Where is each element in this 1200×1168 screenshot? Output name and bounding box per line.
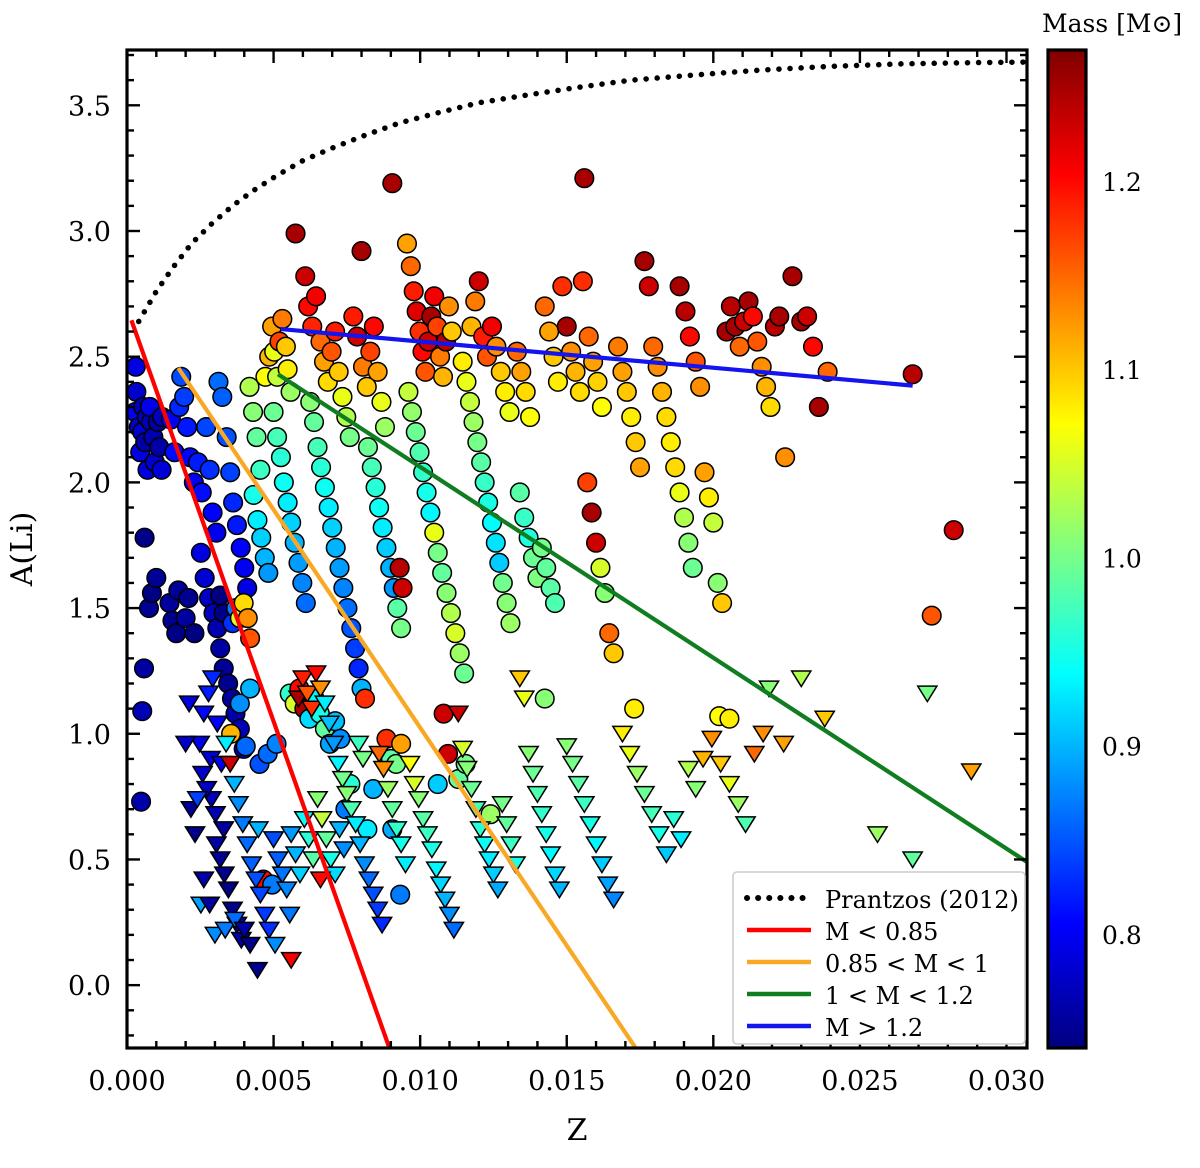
data-point-circle	[277, 337, 296, 356]
y-tick-label: 3.0	[68, 217, 111, 248]
legend-label-2: 0.85 < M < 1	[825, 950, 989, 978]
data-point-circle	[133, 702, 152, 721]
data-point-circle	[464, 413, 483, 432]
data-point-circle	[540, 322, 559, 341]
data-point-circle	[544, 347, 563, 366]
data-point-circle	[622, 408, 641, 427]
data-point-circle	[356, 689, 375, 708]
data-point-circle	[195, 569, 214, 588]
data-point-circle	[461, 393, 480, 412]
data-point-circle	[305, 413, 324, 432]
data-point-circle	[307, 287, 326, 306]
x-axis-label: Z	[567, 1113, 588, 1148]
data-point-circle	[662, 433, 681, 452]
data-point-circle	[720, 709, 739, 728]
data-point-circle	[683, 559, 702, 578]
data-point-circle	[491, 362, 510, 381]
data-point-circle	[319, 498, 338, 517]
data-point-circle	[213, 388, 232, 407]
data-point-circle	[175, 388, 194, 407]
data-point-circle	[377, 538, 396, 557]
data-point-circle	[496, 383, 515, 402]
data-point-circle	[203, 503, 222, 522]
data-point-circle	[403, 403, 422, 422]
data-point-circle	[392, 619, 411, 638]
colorbar	[1048, 50, 1086, 1048]
data-point-circle	[810, 398, 829, 417]
data-point-circle	[399, 383, 418, 402]
data-point-circle	[500, 403, 519, 422]
data-point-circle	[455, 664, 474, 683]
data-point-circle	[268, 428, 287, 447]
colorbar-tick-label: 0.9	[1102, 733, 1142, 762]
data-point-circle	[483, 317, 502, 336]
data-point-circle	[666, 458, 685, 477]
y-tick-label: 3.5	[68, 91, 111, 122]
data-point-circle	[571, 383, 590, 402]
legend: Prantzos (2012)M < 0.850.85 < M < 11 < M…	[733, 872, 1025, 1044]
data-point-circle	[446, 624, 465, 643]
data-point-circle	[272, 448, 291, 467]
data-point-circle	[326, 538, 345, 557]
data-point-circle	[578, 473, 597, 492]
data-point-circle	[497, 594, 516, 613]
data-point-circle	[349, 659, 368, 678]
data-point-circle	[695, 463, 714, 482]
data-point-circle	[776, 448, 795, 467]
x-tick-label: 0.000	[88, 1066, 165, 1097]
data-point-circle	[535, 297, 554, 316]
data-point-circle	[670, 277, 689, 296]
data-point-circle	[221, 463, 240, 482]
data-point-circle	[626, 433, 645, 452]
data-point-circle	[761, 398, 780, 417]
data-point-circle	[516, 383, 535, 402]
x-tick-label: 0.005	[235, 1066, 312, 1097]
data-point-circle	[600, 624, 619, 643]
data-point-circle	[562, 342, 581, 361]
data-point-circle	[486, 533, 505, 552]
data-point-circle	[783, 267, 802, 286]
data-point-circle	[494, 574, 513, 593]
data-point-circle	[244, 403, 263, 422]
data-point-circle	[566, 362, 585, 381]
data-point-circle	[329, 362, 348, 381]
data-point-circle	[264, 403, 283, 422]
y-tick-label: 0.5	[68, 845, 111, 876]
x-tick-label: 0.025	[821, 1066, 898, 1097]
data-point-circle	[457, 373, 476, 392]
data-point-circle	[722, 297, 741, 316]
data-point-circle	[252, 528, 271, 547]
data-point-circle	[640, 277, 659, 296]
legend-label-4: M > 1.2	[825, 1014, 923, 1042]
data-point-circle	[416, 362, 435, 381]
data-point-circle	[296, 267, 315, 286]
data-point-circle	[259, 564, 278, 583]
data-point-circle	[708, 574, 727, 593]
data-point-circle	[553, 277, 572, 296]
data-point-circle	[657, 408, 676, 427]
data-point-circle	[437, 584, 456, 603]
data-point-circle	[368, 362, 387, 381]
data-point-circle	[450, 644, 469, 663]
data-point-circle	[546, 594, 565, 613]
data-point-circle	[330, 559, 349, 578]
data-point-circle	[297, 594, 316, 613]
data-point-circle	[730, 337, 749, 356]
data-point-circle	[273, 310, 292, 329]
data-point-circle	[316, 478, 335, 497]
data-point-circle	[443, 322, 462, 341]
colorbar-title: Mass [M⊙]	[1042, 9, 1182, 38]
colorbar-tick-label: 1.0	[1102, 544, 1142, 573]
data-point-circle	[417, 483, 436, 502]
data-point-circle	[579, 327, 598, 346]
data-point-circle	[744, 307, 763, 326]
data-point-circle	[247, 428, 266, 447]
data-point-circle	[588, 373, 607, 392]
data-point-circle	[521, 408, 540, 427]
data-point-circle	[178, 418, 197, 437]
data-point-circle	[575, 169, 594, 188]
data-point-circle	[373, 518, 392, 537]
data-point-circle	[631, 458, 650, 477]
data-point-circle	[613, 362, 632, 381]
data-point-circle	[593, 398, 612, 417]
x-tick-label: 0.020	[675, 1066, 752, 1097]
data-point-circle	[625, 699, 644, 718]
data-point-circle	[501, 614, 520, 633]
x-tick-label: 0.015	[528, 1066, 605, 1097]
data-point-circle	[251, 461, 270, 480]
data-point-circle	[211, 639, 230, 658]
data-point-circle	[700, 488, 719, 507]
y-tick-label: 0.0	[68, 971, 111, 1002]
data-point-circle	[359, 438, 378, 457]
data-point-circle	[192, 543, 211, 562]
data-point-circle	[393, 579, 412, 598]
data-point-circle	[428, 543, 447, 562]
data-point-circle	[421, 503, 440, 522]
data-point-circle	[362, 458, 381, 477]
data-point-circle	[512, 362, 531, 381]
data-point-circle	[679, 533, 698, 552]
data-point-circle	[312, 458, 331, 477]
legend-label-3: 1 < M < 1.2	[825, 982, 974, 1010]
y-axis-label: A(Li)	[5, 512, 40, 588]
data-point-circle	[770, 307, 789, 326]
data-point-circle	[635, 252, 654, 271]
data-point-circle	[406, 423, 425, 442]
data-point-circle	[286, 224, 305, 243]
data-point-circle	[404, 282, 423, 301]
data-point-circle	[200, 461, 219, 480]
data-point-circle	[453, 352, 472, 371]
data-point-circle	[410, 443, 429, 462]
data-point-circle	[241, 679, 260, 698]
data-point-circle	[425, 523, 444, 542]
data-point-circle	[618, 383, 637, 402]
data-point-circle	[179, 589, 198, 608]
plot-svg: 0.0000.0050.0100.0150.0200.0250.0300.00.…	[0, 0, 1200, 1168]
data-point-circle	[472, 453, 491, 472]
data-point-circle	[609, 337, 628, 356]
data-point-circle	[591, 559, 610, 578]
colorbar-tick-label: 1.2	[1102, 168, 1142, 197]
data-point-circle	[372, 393, 391, 412]
legend-label-1: M < 0.85	[825, 918, 938, 946]
data-point-circle	[361, 342, 380, 361]
data-point-circle	[511, 483, 530, 502]
data-point-circle	[676, 302, 695, 321]
data-point-circle	[903, 365, 922, 384]
data-point-circle	[535, 689, 554, 708]
data-point-circle	[231, 538, 250, 557]
data-point-circle	[147, 569, 166, 588]
data-point-circle	[670, 483, 689, 502]
data-point-circle	[135, 528, 154, 547]
data-point-circle	[434, 368, 453, 387]
data-point-circle	[388, 599, 407, 618]
data-point-circle	[428, 775, 447, 794]
data-point-circle	[334, 579, 353, 598]
data-point-circle	[236, 737, 255, 756]
data-point-circle	[370, 498, 389, 517]
data-point-circle	[557, 317, 576, 336]
data-point-circle	[475, 473, 494, 492]
data-point-circle	[333, 388, 352, 407]
data-point-circle	[248, 511, 267, 530]
figure-root: 0.0000.0050.0100.0150.0200.0250.0300.00.…	[0, 0, 1200, 1168]
data-point-circle	[587, 533, 606, 552]
data-point-circle	[126, 357, 145, 376]
data-point-circle	[713, 594, 732, 613]
data-point-circle	[185, 624, 204, 643]
data-point-circle	[468, 433, 487, 452]
data-point-circle	[433, 564, 452, 583]
data-point-circle	[675, 508, 694, 527]
data-point-circle	[490, 554, 509, 573]
data-point-circle	[582, 503, 601, 522]
data-point-circle	[293, 574, 312, 593]
data-point-circle	[653, 383, 672, 402]
data-point-circle	[365, 317, 384, 336]
y-tick-label: 2.5	[68, 343, 111, 374]
data-point-circle	[383, 174, 402, 193]
y-tick-label: 1.5	[68, 594, 111, 625]
data-point-circle	[132, 792, 151, 811]
data-point-circle	[344, 307, 363, 326]
data-point-circle	[228, 516, 247, 535]
data-point-circle	[440, 297, 459, 316]
data-point-circle	[469, 272, 488, 291]
data-point-circle	[323, 518, 342, 537]
data-point-circle	[944, 521, 963, 540]
data-point-circle	[376, 418, 395, 437]
data-point-circle	[748, 332, 767, 351]
y-tick-label: 1.0	[68, 720, 111, 751]
x-tick-label: 0.010	[382, 1066, 459, 1097]
data-point-circle	[322, 342, 341, 361]
data-point-circle	[275, 473, 294, 492]
data-point-circle	[515, 508, 534, 527]
data-point-circle	[442, 604, 461, 623]
data-point-circle	[537, 559, 556, 578]
colorbar-tick-label: 1.1	[1102, 356, 1142, 385]
data-point-circle	[366, 478, 385, 497]
data-point-circle	[398, 234, 417, 253]
data-point-circle	[341, 428, 360, 447]
data-point-circle	[235, 559, 254, 578]
data-point-circle	[466, 292, 485, 311]
x-tick-label: 0.030	[968, 1066, 1045, 1097]
data-point-circle	[798, 307, 817, 326]
data-point-circle	[224, 493, 243, 512]
data-point-circle	[352, 242, 371, 261]
data-point-circle	[152, 461, 171, 480]
data-point-circle	[574, 272, 593, 291]
data-point-circle	[278, 493, 297, 512]
data-point-circle	[391, 885, 410, 904]
data-point-circle	[681, 327, 700, 346]
colorbar-tick-label: 0.8	[1102, 921, 1142, 950]
data-point-circle	[401, 257, 420, 276]
data-point-circle	[390, 559, 409, 578]
data-point-circle	[392, 735, 411, 754]
data-point-circle	[757, 378, 776, 397]
data-point-circle	[804, 337, 823, 356]
data-point-circle	[604, 644, 623, 663]
data-point-circle	[135, 659, 154, 678]
data-point-circle	[691, 378, 710, 397]
legend-label-0: Prantzos (2012)	[825, 886, 1019, 914]
data-point-circle	[922, 606, 941, 625]
data-point-circle	[644, 337, 663, 356]
y-tick-label: 2.0	[68, 468, 111, 499]
data-point-circle	[549, 373, 568, 392]
data-point-circle	[704, 513, 723, 532]
data-point-circle	[308, 438, 327, 457]
